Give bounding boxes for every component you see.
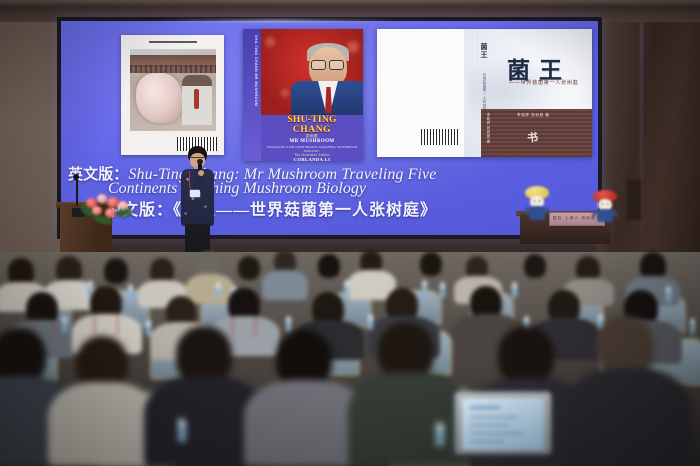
ceiling-strip	[0, 0, 700, 7]
water-bottle	[128, 286, 133, 300]
presenter	[176, 146, 218, 266]
water-bottle	[286, 318, 291, 332]
wall-seam	[640, 10, 643, 260]
attendee-laptop	[455, 392, 551, 466]
barcode-icon	[421, 129, 459, 145]
attendee-head	[524, 254, 546, 278]
book-spine: SHU-TING CHANG MR MUSHROOM	[243, 29, 261, 161]
mushroom-mascot-yellow	[524, 186, 550, 220]
microphone-head	[197, 159, 203, 164]
attendee-head	[318, 254, 340, 278]
laptop-screen-line	[470, 424, 510, 427]
flower-arrangement	[80, 192, 132, 222]
attendee-lanyard	[94, 316, 118, 336]
book-cover-english: SHU-TING CHANG MR MUSHROOM SHU-TING CHAN…	[243, 29, 363, 161]
water-bottle	[422, 282, 427, 296]
attendee-shoulders	[564, 368, 692, 466]
mascot-arm	[545, 207, 550, 215]
mascot-arm	[613, 210, 618, 218]
bokeh-light	[281, 89, 289, 97]
portrait-glasses-right	[329, 60, 344, 70]
water-bottle	[666, 288, 671, 302]
water-bottle	[440, 284, 445, 298]
band-author-text: 李晓婷 张树庭 著	[517, 113, 550, 118]
chinese-book-subtitle: ——世界菇菌第一人张树庭	[509, 79, 579, 86]
water-bottle	[178, 420, 186, 442]
laptop-screen-line	[470, 406, 500, 409]
cover-rule	[149, 41, 197, 43]
portrait-glasses-left	[311, 60, 326, 70]
presenter-badge	[190, 190, 200, 197]
laptop-screen-line	[470, 432, 522, 435]
gooseneck-mic-icon	[73, 174, 79, 180]
attendee-shoulders	[48, 382, 158, 466]
laptop-screen-line	[470, 440, 504, 443]
attendee-shoulders	[348, 372, 470, 466]
bokeh-light	[265, 37, 275, 47]
flower	[97, 194, 107, 203]
book-back-cover	[121, 35, 224, 155]
book-title-line1: SHU-TING	[261, 115, 363, 125]
attendee-head	[238, 256, 260, 280]
book-author: CORLANDA LI	[261, 157, 363, 161]
water-bottle	[62, 318, 67, 332]
laptop-screen	[462, 398, 544, 450]
attendee-shoulders	[186, 274, 234, 304]
attendee-lanyard	[232, 318, 256, 338]
flower	[105, 208, 116, 218]
attendee-head	[498, 326, 554, 384]
laptop-screen-line	[470, 416, 518, 419]
attendee-shoulders	[262, 270, 308, 300]
flower	[118, 201, 128, 210]
water-bottle	[216, 284, 221, 298]
publisher-seal-icon: 书	[526, 128, 544, 146]
jacket-spine-title: 菌王	[479, 43, 489, 59]
wall-recess	[627, 180, 641, 220]
mushroom-harvest-photo	[130, 49, 216, 131]
photo-person-tie	[194, 89, 199, 109]
water-bottle	[512, 284, 517, 298]
mascot-body	[529, 206, 545, 220]
band-spine-text: 李晓婷 张树庭 著	[483, 113, 491, 143]
water-bottle	[368, 316, 373, 330]
presenter-hand	[198, 170, 204, 176]
water-bottle	[690, 320, 695, 334]
photo-background-shelf	[130, 65, 216, 73]
attendee-head	[104, 258, 128, 284]
book-subtitle: MR MUSHROOM	[261, 139, 363, 144]
attendee-head	[596, 316, 654, 376]
cover-red-background	[261, 29, 363, 115]
book-cover-chinese: 菌王 世界菇菌第一人张树庭 菌王 ——世界菇菌第一人张树庭 李晓婷 张树庭 著 …	[377, 29, 592, 157]
mushroom-mascot-red	[592, 190, 618, 222]
table-name-sign-text: 国际 上海人 张树庭	[553, 215, 596, 220]
book-spine-text: SHU-TING CHANG MR MUSHROOM	[245, 35, 259, 155]
conference-photo-scene: SHU-TING CHANG MR MUSHROOM SHU-TING CHAN…	[0, 0, 700, 466]
gooseneck-mic-stand	[76, 178, 78, 206]
attendee-head	[420, 252, 442, 276]
mushroom-cluster	[136, 73, 182, 123]
bezel-highlight	[150, 19, 400, 22]
flower	[92, 206, 102, 215]
water-bottle	[146, 322, 151, 336]
slide-caption-line3: 中文版：《菌王——世界菇菌第一人张树庭》	[105, 196, 437, 220]
jacket-spine-subtitle: 世界菇菌第一人张树庭	[478, 73, 487, 111]
water-bottle	[344, 282, 349, 296]
water-bottle	[436, 424, 444, 446]
mascot-body	[597, 209, 613, 222]
